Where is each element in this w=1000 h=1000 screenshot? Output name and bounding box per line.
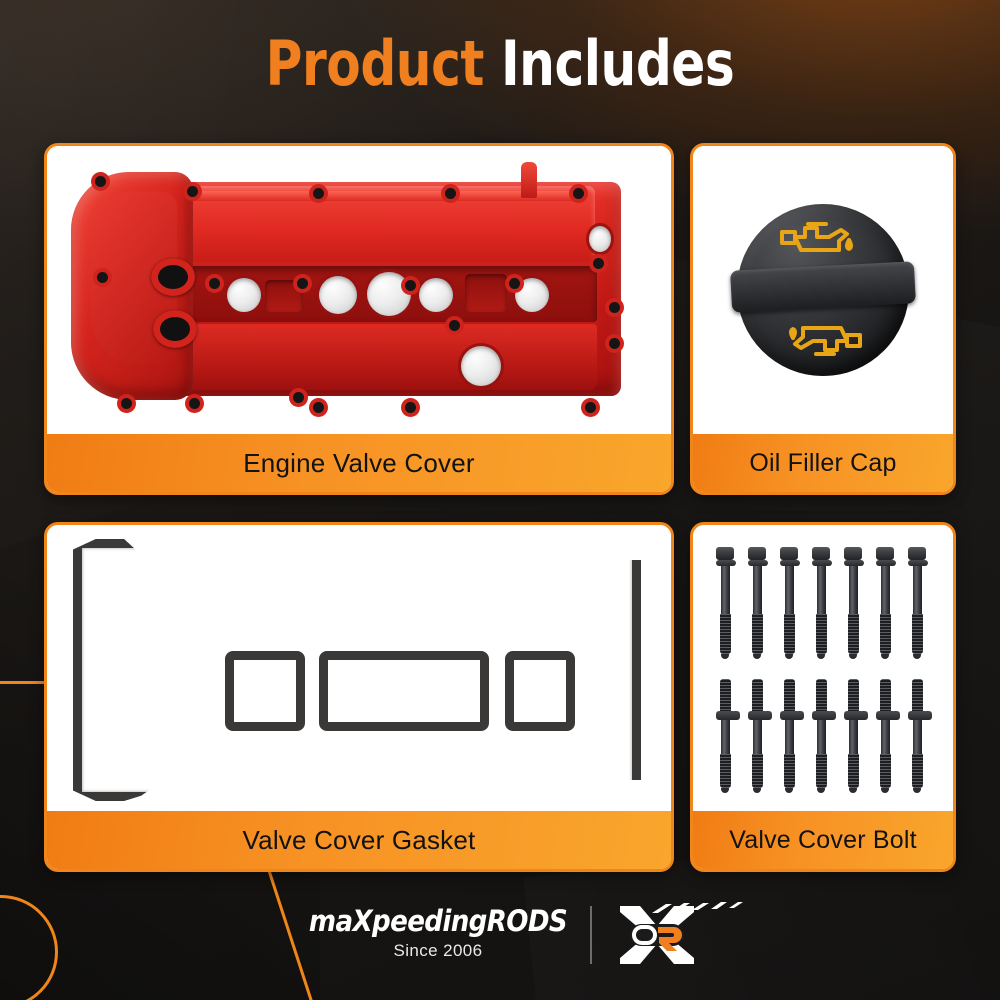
bolt-tip [753,654,761,659]
valve-cover-spark-hole-3 [367,272,411,316]
infographic-canvas: Product Includes [0,0,1000,1000]
bolt-thread-upper [816,679,827,711]
valve-cover-bolt-hole-9 [609,338,620,349]
valve-cover-spark-hole-5 [515,278,549,312]
bolt-tip [785,788,793,793]
bolt-thread [816,614,827,654]
page-title-plain: Includes [501,27,734,100]
bolt-hex-head [844,547,862,560]
valve-cover-bolt-hole-16 [209,278,220,289]
valve-cover-spark-hole-2 [319,276,357,314]
bolt-hex-head [780,547,798,560]
brand-since: Since 2006 [298,941,578,961]
valve-cover-breather-nipple [521,162,537,198]
brand-prefix: maX [309,904,372,938]
brand-suffix: RODS [487,904,567,938]
oil-can-icon-top [779,220,865,262]
bolt-flange [716,711,740,720]
bolt-shank [817,720,826,754]
bolt-tip [881,788,889,793]
valve-cover-spark-hole-4 [419,278,453,312]
brand-lockup: maXpeedingRODS Since 2006 [298,904,578,961]
bolt-shank [913,566,922,614]
bolt-tip [721,654,729,659]
valve-cover-bolt-hole-7 [593,258,604,269]
valve-cover-bolt-hole-17 [297,278,308,289]
valve-cover-cam-port-upper [151,258,195,296]
bolt-hex-head [876,547,894,560]
product-card-valve-cover-gasket[interactable]: Valve Cover Gasket [44,522,674,872]
bolt-thread [720,614,731,654]
bolt-shank [785,720,794,754]
bolt-shank [881,566,890,614]
bolt-hex-head [812,547,830,560]
valve-cover-bolt-hole-18 [405,280,416,291]
product-card-caption: Valve Cover Gasket [47,811,671,869]
bolt-shank [721,720,730,754]
bolt-set-illustration [693,525,953,811]
bolt-thread [784,614,795,654]
bolt-tip [913,788,921,793]
bolt-hex-head [908,547,926,560]
valve-cover-illustration [69,162,655,420]
product-card-engine-valve-cover[interactable]: Engine Valve Cover [44,143,674,495]
bolt-tip [817,788,825,793]
bolt-thread [912,614,923,654]
bolt-thread-upper [880,679,891,711]
bolt-tip [849,654,857,659]
bolt-thread-lower [848,754,859,788]
bolt-shank [817,566,826,614]
valve-cover-bolt-hole-13 [313,402,324,413]
bolt-thread [880,614,891,654]
bolt-top-row [844,547,862,659]
bolt-shank [785,566,794,614]
bolt-tip [721,788,729,793]
brand-name: maXpeedingRODS [298,904,578,938]
valve-cover-bolt-hole-14 [405,402,416,413]
bolt-tip [753,788,761,793]
bolt-thread [848,614,859,654]
bolt-thread-lower [752,754,763,788]
product-image-valve-cover-bolt [693,525,953,811]
oil-can-icon-bottom [777,316,863,358]
bolt-thread-lower [720,754,731,788]
page-title: Product Includes [50,33,950,95]
bolt-shank [849,566,858,614]
valve-cover-bolt-hole-1 [95,176,106,187]
valve-cover-bolt-hole-20 [509,278,520,289]
gasket-inner-seal-2 [319,651,489,731]
bolt-shank [881,720,890,754]
bolt-top-row [812,547,830,659]
bolt-flange [780,711,804,720]
valve-cover-bolt-hole-6 [97,272,108,283]
bolt-hex-head [748,547,766,560]
x-badge-logo [614,902,700,968]
bolt-flange [844,711,868,720]
bolt-top-row [748,547,766,659]
product-card-valve-cover-bolt[interactable]: Valve Cover Bolt [690,522,956,872]
bolt-bottom-row [876,679,894,793]
bolt-bottom-row [844,679,862,793]
bolt-hex-head [716,547,734,560]
bolt-bottom-row [780,679,798,793]
bolt-shank [849,720,858,754]
bolt-thread-lower [912,754,923,788]
bolt-thread-upper [784,679,795,711]
product-image-valve-cover-gasket [47,525,671,811]
valve-cover-top-ridge [163,191,583,201]
decor-orange-line [0,681,46,684]
bolt-thread [752,614,763,654]
bolt-flange [908,711,932,720]
bolt-shank [753,566,762,614]
bolt-tip [785,654,793,659]
oil-filler-cap-illustration [737,204,909,376]
product-image-engine-valve-cover [47,146,671,434]
bolt-top-row [908,547,926,659]
bolt-tip [913,654,921,659]
bolt-thread-upper [720,679,731,711]
bolt-flange [876,711,900,720]
valve-cover-bolt-hole-2 [187,186,198,197]
valve-cover-bolt-hole-4 [445,188,456,199]
bolt-flange [812,711,836,720]
brand-mid: peeding [372,904,487,938]
bolt-thread-lower [816,754,827,788]
valve-cover-side-hole [589,226,611,252]
bolt-bottom-row [748,679,766,793]
valve-cover-bolt-hole-15 [585,402,596,413]
bolt-bottom-row [812,679,830,793]
product-card-caption: Oil Filler Cap [693,434,953,492]
page-title-accent: Product [266,27,484,100]
bolt-bottom-row [908,679,926,793]
valve-cover-bolt-hole-10 [121,398,132,409]
product-image-oil-filler-cap [693,146,953,434]
bolt-shank [721,566,730,614]
valve-cover-bolt-hole-19 [449,320,460,331]
valve-cover-bolt-hole-5 [573,188,584,199]
bolt-tip [817,654,825,659]
product-card-caption: Engine Valve Cover [47,434,671,492]
bolt-thread-lower [880,754,891,788]
valve-cover-bolt-hole-3 [313,188,324,199]
product-card-caption: Valve Cover Bolt [693,811,953,869]
valve-cover-bolt-hole-11 [189,398,200,409]
bolt-top-row [876,547,894,659]
gasket-inner-seal-1 [225,651,305,731]
footer-divider [590,906,592,964]
valve-cover-lower-face [151,324,597,390]
gasket-illustration [73,539,641,801]
bolt-tip [881,654,889,659]
bolt-bottom-row [716,679,734,793]
valve-cover-recess-2 [465,274,507,312]
bolt-flange [748,711,772,720]
bolt-shank [753,720,762,754]
footer: maXpeedingRODS Since 2006 [0,896,1000,986]
bolt-thread-lower [784,754,795,788]
bolt-top-row [780,547,798,659]
bolt-shank [913,720,922,754]
product-card-oil-filler-cap[interactable]: Oil Filler Cap [690,143,956,495]
bolt-thread-upper [752,679,763,711]
valve-cover-bolt-hole-8 [609,302,620,313]
valve-cover-oil-fill-hole [461,346,501,386]
valve-cover-spark-hole-1 [227,278,261,312]
bolt-tip [849,788,857,793]
valve-cover-cam-port-lower [153,310,197,348]
valve-cover-bolt-hole-12 [293,392,304,403]
gasket-inner-seal-3 [505,651,575,731]
bolt-thread-upper [912,679,923,711]
bolt-top-row [716,547,734,659]
bolt-thread-upper [848,679,859,711]
